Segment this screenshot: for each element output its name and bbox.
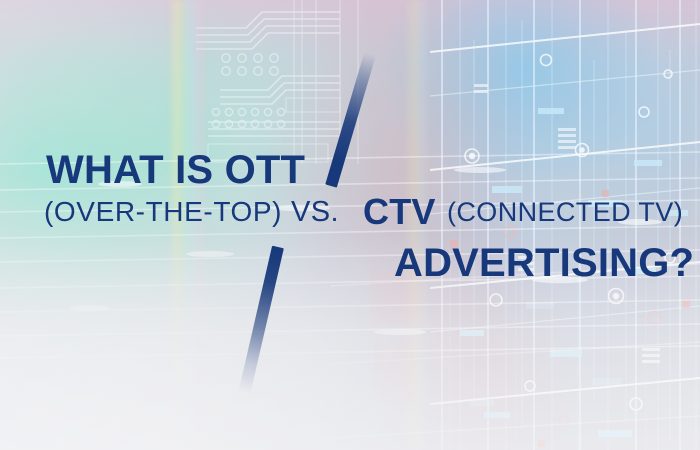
banner-headline: WHAT IS OTT (OVER-THE-TOP) VS. CTV (CONN… [0, 0, 700, 450]
headline-versus-separator: VS. [291, 198, 339, 227]
headline-advertising: ADVERTISING? [394, 243, 694, 283]
headline-what-is-ott: WHAT IS OTT [46, 150, 305, 190]
ott-vs-ctv-banner: WHAT IS OTT (OVER-THE-TOP) VS. CTV (CONN… [0, 0, 700, 450]
headline-connected-tv: (CONNECTED TV) [447, 199, 683, 226]
headline-over-the-top: (OVER-THE-TOP) [44, 198, 282, 226]
headline-ctv: CTV [363, 194, 436, 230]
